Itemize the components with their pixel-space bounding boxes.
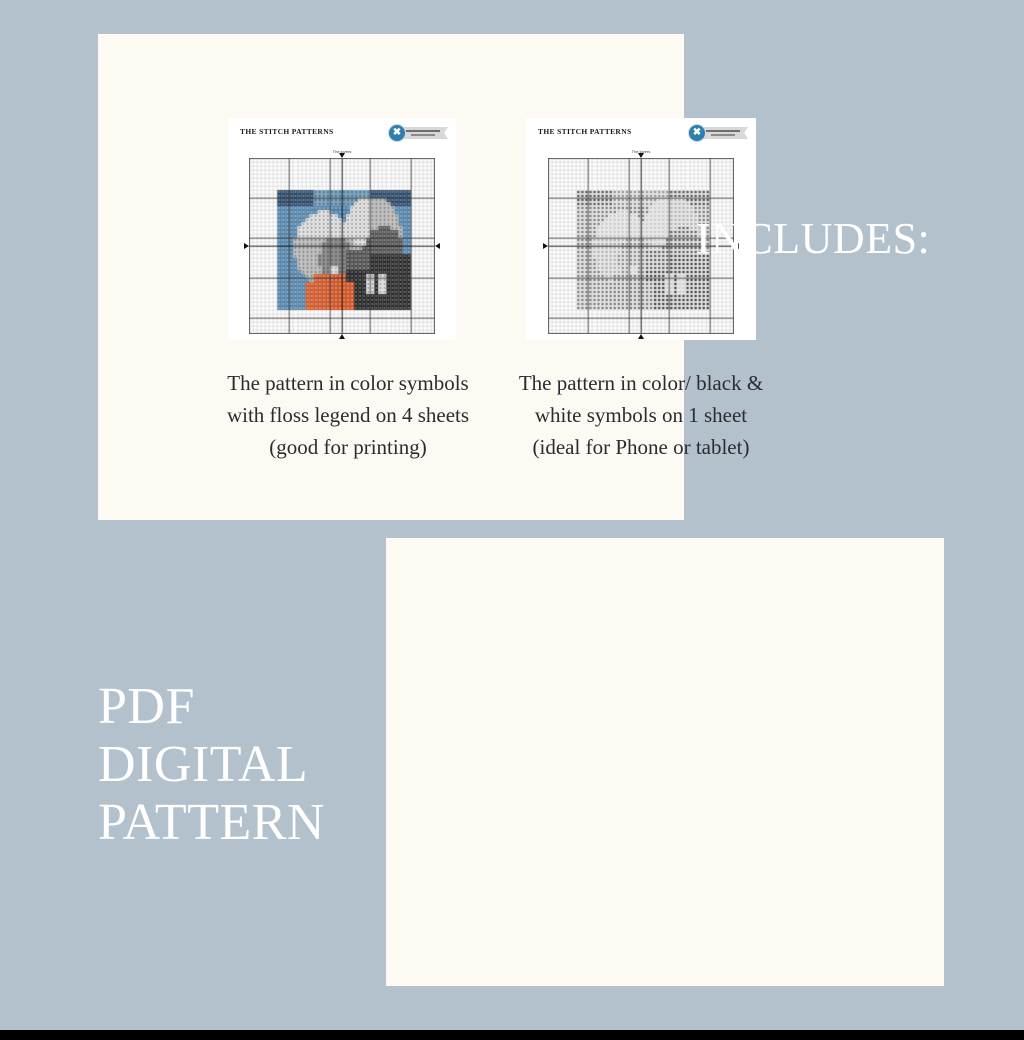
top-panel: THE STITCH PATTERNS ✖ The lovers T [98, 34, 684, 520]
badge-text-line1 [406, 130, 440, 132]
pattern-keeper-badge: ✖ [686, 124, 748, 142]
center-marker-left-icon [244, 243, 249, 249]
poster-root: THE STITCH PATTERNS ✖ The lovers T [0, 0, 1024, 1040]
badge-ribbon [400, 127, 448, 139]
badge-text-line2 [711, 134, 735, 136]
badge-seal-icon: ✖ [388, 124, 406, 142]
sheet-header: THE STITCH PATTERNS ✖ [526, 118, 756, 144]
center-marker-top-icon [638, 153, 644, 158]
caption-color-symbols: The pattern in color symbols with floss … [224, 368, 472, 464]
brand-title: THE STITCH PATTERNS [538, 127, 631, 136]
pdf-heading-line3: PATTERN [98, 794, 325, 852]
bottom-panel: THE STITCH PATTERNS ✖ Symbol Key for Des… [386, 538, 944, 986]
sheet-header: THE STITCH PATTERNS ✖ [228, 118, 456, 144]
badge-text-line1 [706, 130, 740, 132]
sheet-color-chart[interactable]: THE STITCH PATTERNS ✖ The lovers [228, 118, 456, 340]
caption-bw-symbols: The pattern in color/ black & white symb… [512, 368, 770, 464]
center-marker-left-icon [543, 243, 548, 249]
pattern-keeper-badge: ✖ [386, 124, 448, 142]
color-chart-canvas [249, 158, 435, 334]
center-marker-bottom-icon [339, 334, 345, 339]
brand-title: THE STITCH PATTERNS [240, 127, 333, 136]
color-chart-area[interactable]: The lovers [249, 158, 435, 334]
center-marker-bottom-icon [638, 334, 644, 339]
center-marker-top-icon [339, 153, 345, 158]
bottom-bar [0, 1030, 1024, 1040]
includes-heading: INCLUDES: [696, 214, 930, 263]
center-marker-right-icon [435, 243, 440, 249]
badge-seal-icon: ✖ [688, 124, 706, 142]
pdf-heading-line1: PDF [98, 678, 325, 736]
badge-text-line2 [411, 134, 435, 136]
pdf-digital-pattern-heading: PDF DIGITAL PATTERN [98, 678, 325, 853]
pdf-heading-line2: DIGITAL [98, 736, 325, 794]
badge-ribbon [700, 127, 748, 139]
